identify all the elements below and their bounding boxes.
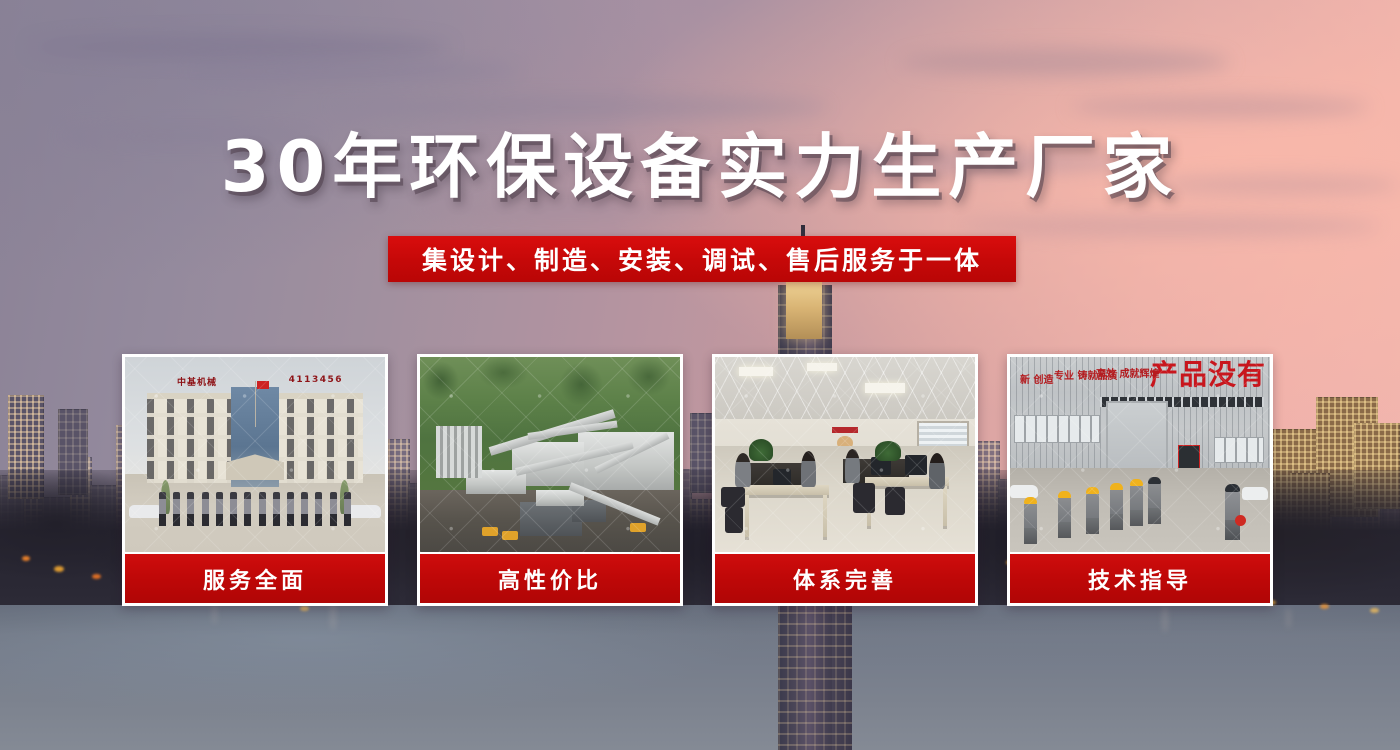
office-interior-photo	[715, 357, 975, 552]
factory-wall-slogan-3: 高效 成就辉煌	[1096, 369, 1159, 381]
aerial-plant-photo	[420, 357, 680, 552]
water-reflection	[0, 590, 1400, 750]
cloud	[900, 48, 1230, 76]
subtitle-badge: 集设计、制造、安装、调试、售后服务于一体	[388, 236, 1016, 282]
flag-icon	[257, 381, 269, 389]
company-signage-text: 中基机械	[177, 375, 217, 388]
feature-card-row: 中基机械 4113456 服务全面	[122, 354, 1276, 606]
company-phone-text: 4113456	[289, 375, 343, 385]
workshop-training-photo: 产品没有 新 创造 专业 铸就品质 高效 成就辉煌	[1010, 357, 1270, 552]
cloud	[330, 96, 830, 118]
feature-card-label-text: 体系完善	[793, 563, 897, 595]
cloud	[30, 34, 450, 60]
tower-crown-lights	[786, 277, 822, 339]
page-title: 30年环保设备实力生产厂家	[0, 132, 1400, 202]
feature-card[interactable]: 体系完善	[712, 354, 978, 606]
feature-card[interactable]: 中基机械 4113456 服务全面	[122, 354, 388, 606]
feature-card-label: 高性价比	[420, 554, 680, 603]
cloud	[1070, 96, 1370, 118]
feature-card-label-text: 服务全面	[203, 563, 307, 595]
feature-card-label-text: 技术指导	[1088, 563, 1192, 595]
subtitle-text: 集设计、制造、安装、调试、售后服务于一体	[422, 241, 982, 277]
company-headquarters-photo: 中基机械 4113456	[125, 357, 385, 552]
feature-card[interactable]: 高性价比	[417, 354, 683, 606]
factory-wall-slogan-1: 新 创造	[1020, 375, 1053, 387]
feature-card-label-text: 高性价比	[498, 563, 602, 595]
feature-card-label: 技术指导	[1010, 554, 1270, 603]
banner-stage: 30年环保设备实力生产厂家 集设计、制造、安装、调试、售后服务于一体 中基机械 …	[0, 0, 1400, 750]
feature-card-label: 服务全面	[125, 554, 385, 603]
feature-card[interactable]: 产品没有 新 创造 专业 铸就品质 高效 成就辉煌	[1007, 354, 1273, 606]
factory-wall-slogan-large: 产品没有	[1150, 361, 1266, 389]
cloud	[190, 62, 520, 80]
feature-card-label: 体系完善	[715, 554, 975, 603]
